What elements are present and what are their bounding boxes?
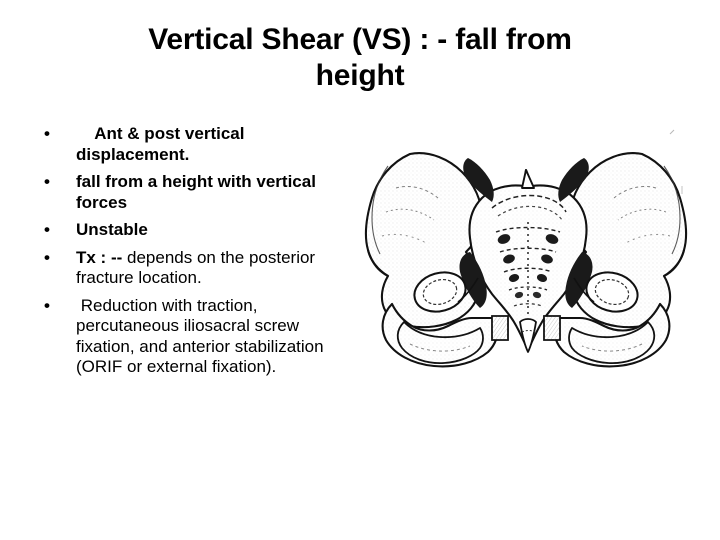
- sacral-promontory: [522, 170, 534, 188]
- coccyx: [520, 319, 536, 352]
- bullet-point-icon: •: [44, 248, 50, 269]
- bullet-point-icon: •: [44, 296, 50, 317]
- list-item-bold-text: Tx : --: [76, 248, 122, 267]
- list-item-label: Ant & post vertical displacement.: [76, 124, 340, 165]
- pelvis-anatomy-image: [352, 126, 700, 376]
- list-item-regular-text: Reduction with traction, percutaneous il…: [76, 296, 324, 377]
- list-item-bold-text: fall from a height with vertical forces: [76, 172, 316, 212]
- pelvis-diagram-svg: [352, 126, 700, 376]
- list-item-bold-text: Unstable: [76, 220, 148, 239]
- list-item: • Ant & post vertical displacement.: [30, 124, 340, 165]
- bullet-list: • Ant & post vertical displacement. • fa…: [30, 124, 340, 378]
- list-item-label: Tx : -- depends on the posterior fractur…: [76, 248, 340, 289]
- list-item: • Tx : -- depends on the posterior fract…: [30, 248, 340, 289]
- bullet-point-icon: •: [44, 172, 50, 193]
- list-item-label: Unstable: [76, 220, 340, 241]
- list-item-label: fall from a height with vertical forces: [76, 172, 340, 213]
- list-item-indent: [76, 124, 94, 143]
- page-title-line-2: height: [46, 58, 674, 94]
- list-item: • fall from a height with vertical force…: [30, 172, 340, 213]
- list-item: • Unstable: [30, 220, 340, 241]
- list-item-bold-text: Ant & post vertical displacement.: [76, 124, 244, 164]
- slide-canvas: Vertical Shear (VS) : - fall from height…: [0, 0, 720, 540]
- bullet-point-icon: •: [44, 124, 50, 145]
- pelvis-outline-group: [366, 130, 686, 366]
- bullet-point-icon: •: [44, 220, 50, 241]
- scan-artifact-mark-1: [670, 130, 674, 134]
- list-item-label: Reduction with traction, percutaneous il…: [76, 296, 340, 378]
- left-pubic-symphysis-hatch: [492, 316, 508, 340]
- page-title-line-1: Vertical Shear (VS) : - fall from: [46, 22, 674, 58]
- right-pubic-symphysis-hatch: [544, 316, 560, 340]
- page-title: Vertical Shear (VS) : - fall from height: [46, 22, 674, 94]
- list-item: • Reduction with traction, percutaneous …: [30, 296, 340, 378]
